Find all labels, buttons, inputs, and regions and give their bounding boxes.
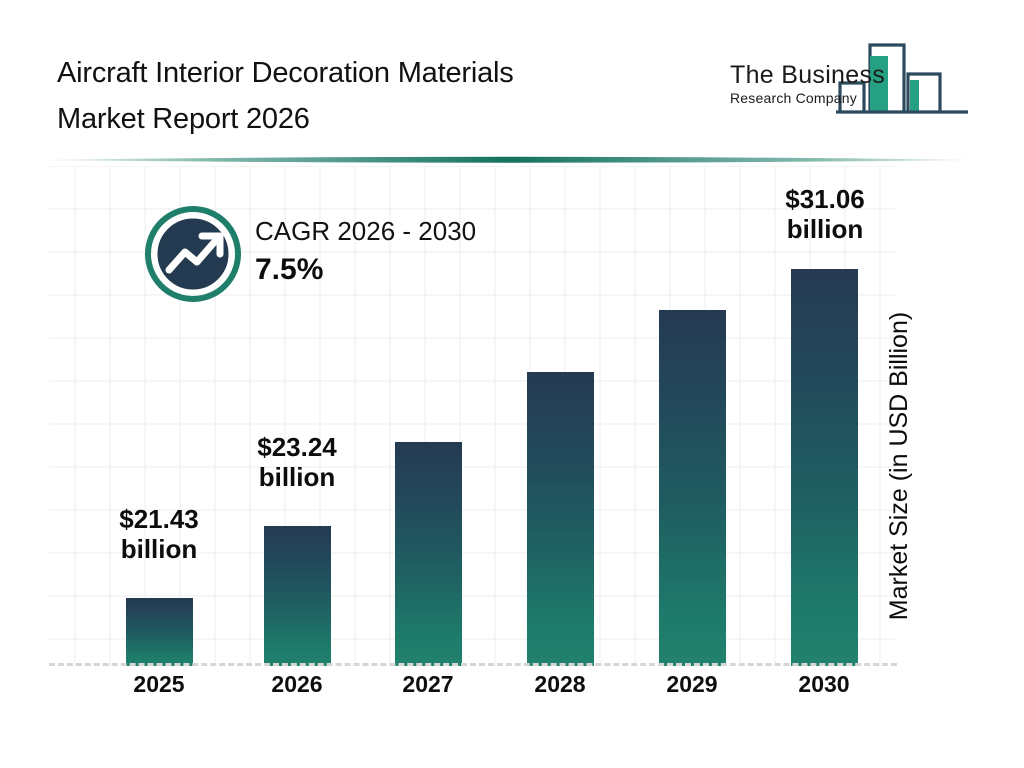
x-tick-2025: 2025 <box>99 671 219 698</box>
page-title: Aircraft Interior Decoration Materials M… <box>57 50 697 142</box>
value-label-2025: $21.43 billion <box>89 504 229 564</box>
cagr-period-label: CAGR 2026 - 2030 <box>255 214 565 248</box>
bar-2030[interactable] <box>791 269 858 666</box>
x-tick-2030: 2030 <box>764 671 884 698</box>
logo-text-line-2: Research Company <box>730 89 890 107</box>
x-tick-2028: 2028 <box>500 671 620 698</box>
bar-2025[interactable] <box>126 598 193 666</box>
bar-2028[interactable] <box>527 372 594 666</box>
cagr-badge: CAGR 2026 - 2030 7.5% <box>145 206 565 306</box>
value-label-2026: $23.24 billion <box>227 432 367 492</box>
plot-area: $21.43 billion $23.24 billion $31.06 bil… <box>49 166 897 666</box>
bar-2029[interactable] <box>659 310 726 666</box>
value-label-2025-amount: $21.43 <box>89 504 229 534</box>
y-axis-title: Market Size (in USD Billion) <box>885 0 925 266</box>
cagr-value: 7.5% <box>255 250 565 290</box>
x-tick-2029: 2029 <box>632 671 752 698</box>
cagr-text-block: CAGR 2026 - 2030 7.5% <box>255 214 565 290</box>
y-axis-title-text: Market Size (in USD Billion) <box>885 266 914 666</box>
bar-chart: $21.43 billion $23.24 billion $31.06 bil… <box>0 166 1024 768</box>
value-label-2025-unit: billion <box>89 534 229 564</box>
page-header: Aircraft Interior Decoration Materials M… <box>0 0 1024 152</box>
value-label-2030: $31.06 billion <box>755 184 895 244</box>
value-label-2026-unit: billion <box>227 462 367 492</box>
page-title-line-1: Aircraft Interior Decoration Materials <box>57 50 697 96</box>
x-tick-2026: 2026 <box>237 671 357 698</box>
trending-up-arrow-icon <box>145 206 241 302</box>
header-divider <box>40 154 980 166</box>
logo-wordmark: The Business Research Company <box>730 62 890 107</box>
logo-text-line-1: The Business <box>730 62 890 88</box>
bar-2027[interactable] <box>395 442 462 666</box>
x-tick-2027: 2027 <box>368 671 488 698</box>
value-label-2030-amount: $31.06 <box>755 184 895 214</box>
x-axis: 2025 2026 2027 2028 2029 2030 <box>49 671 897 711</box>
value-label-2026-amount: $23.24 <box>227 432 367 462</box>
chart-baseline <box>49 663 897 666</box>
page-title-line-2: Market Report 2026 <box>57 96 697 142</box>
value-label-2030-unit: billion <box>755 214 895 244</box>
bar-2026[interactable] <box>264 526 331 666</box>
company-logo: The Business Research Company <box>718 28 980 128</box>
